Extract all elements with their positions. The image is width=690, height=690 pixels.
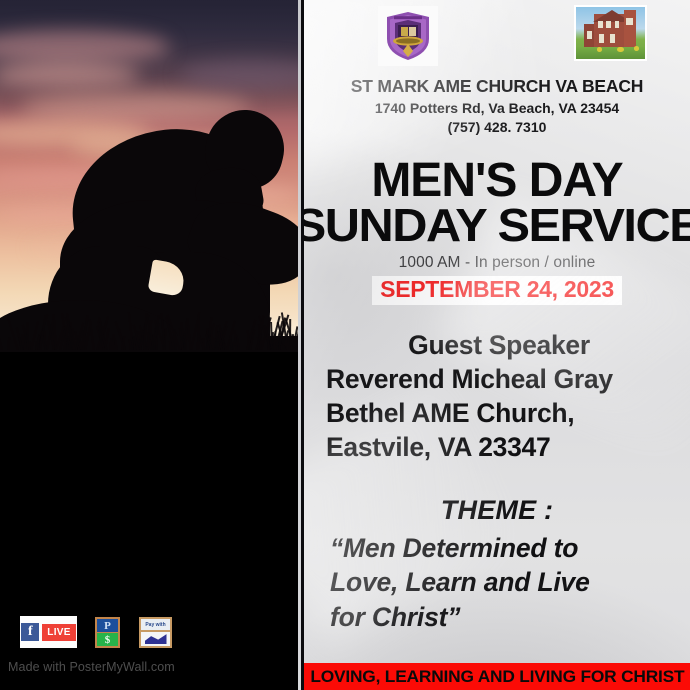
facebook-live-badge[interactable]: f LIVE (20, 616, 77, 648)
st-mark-ame-crest-logo (378, 6, 438, 66)
church-phone: (757) 428. 7310 (304, 119, 690, 135)
event-date-wrapper: SEPTEMBER 24, 2023 (304, 276, 690, 305)
paypal-glyph: P (104, 620, 111, 632)
cashapp-glyph: $ (105, 634, 111, 646)
motto-banner: LOVING, LEARNING AND LIVING FOR CHRIST (304, 663, 690, 690)
church-name: ST MARK AME CHURCH VA BEACH (304, 76, 690, 97)
theme-line-3: for Christ” (330, 600, 690, 634)
postermywall-credit: Made with PosterMyWall.com (8, 660, 175, 674)
cashapp-icon: $ (97, 633, 118, 646)
mail-icon-label: Pay with (141, 619, 170, 630)
theme-label: THEME : (304, 495, 690, 526)
theme-text: “Men Determined to Love, Learn and Live … (304, 531, 690, 634)
usps-eagle-icon (141, 632, 170, 646)
flyer-content-panel: ST MARK AME CHURCH VA BEACH 1740 Potters… (304, 0, 690, 690)
theme-line-2: Love, Learn and Live (330, 565, 690, 599)
facebook-icon: f (21, 623, 39, 641)
headline-line-1: MEN'S DAY (304, 157, 690, 204)
motto-text: LOVING, LEARNING AND LIVING FOR CHRIST (310, 667, 684, 687)
st-mark-ame-church-building-photo (574, 5, 647, 61)
logo-row (304, 0, 690, 72)
guest-speaker-church: Bethel AME Church, (326, 397, 690, 431)
event-date: SEPTEMBER 24, 2023 (372, 276, 622, 305)
live-badge-label: LIVE (42, 624, 75, 641)
grass-silhouette (0, 310, 301, 350)
paypal-icon: P (97, 619, 118, 632)
guest-speaker-label: Guest Speaker (326, 329, 690, 363)
headline-line-2: SUNDAY SERVICE (304, 202, 690, 248)
guest-speaker-name: Reverend Micheal Gray (326, 363, 690, 397)
guest-speaker-location: Eastvile, VA 23347 (326, 431, 690, 465)
guest-speaker-block: Guest Speaker Reverend Micheal Gray Beth… (304, 329, 690, 465)
social-payment-strip: f LIVE P $ Pay with Made with PosterMyWa… (0, 605, 301, 690)
usps-mail-icon[interactable]: Pay with (139, 617, 172, 648)
theme-line-1: “Men Determined to (330, 531, 690, 565)
panel-divider (298, 0, 301, 690)
paypal-cashapp-icon[interactable]: P $ (95, 617, 120, 648)
flyer-poster: f LIVE P $ Pay with Made with PosterMyWa… (0, 0, 690, 690)
church-address: 1740 Potters Rd, Va Beach, VA 23454 (304, 100, 690, 116)
service-time-note: 1000 AM - In person / online (304, 254, 690, 272)
silhouette-photo-panel: f LIVE P $ Pay with Made with PosterMyWa… (0, 0, 301, 690)
